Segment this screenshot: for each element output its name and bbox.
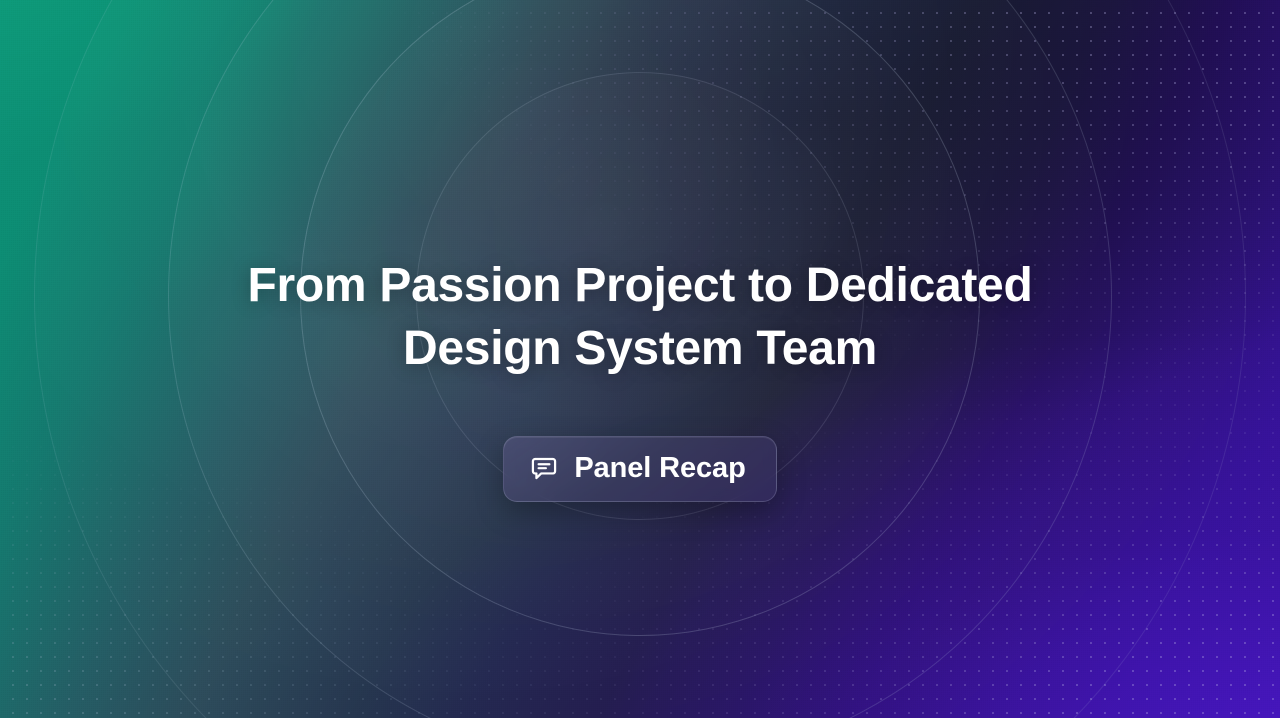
page-title: From Passion Project to Dedicated Design…: [248, 254, 1033, 380]
title-card: From Passion Project to Dedicated Design…: [0, 0, 1280, 718]
panel-recap-label: Panel Recap: [574, 454, 745, 483]
title-line-1: From Passion Project to Dedicated: [248, 259, 1033, 312]
speech-bubble-icon: [530, 455, 558, 483]
title-line-2: Design System Team: [403, 322, 877, 375]
panel-recap-badge[interactable]: Panel Recap: [503, 436, 776, 502]
card-content: From Passion Project to Dedicated Design…: [0, 0, 1280, 718]
